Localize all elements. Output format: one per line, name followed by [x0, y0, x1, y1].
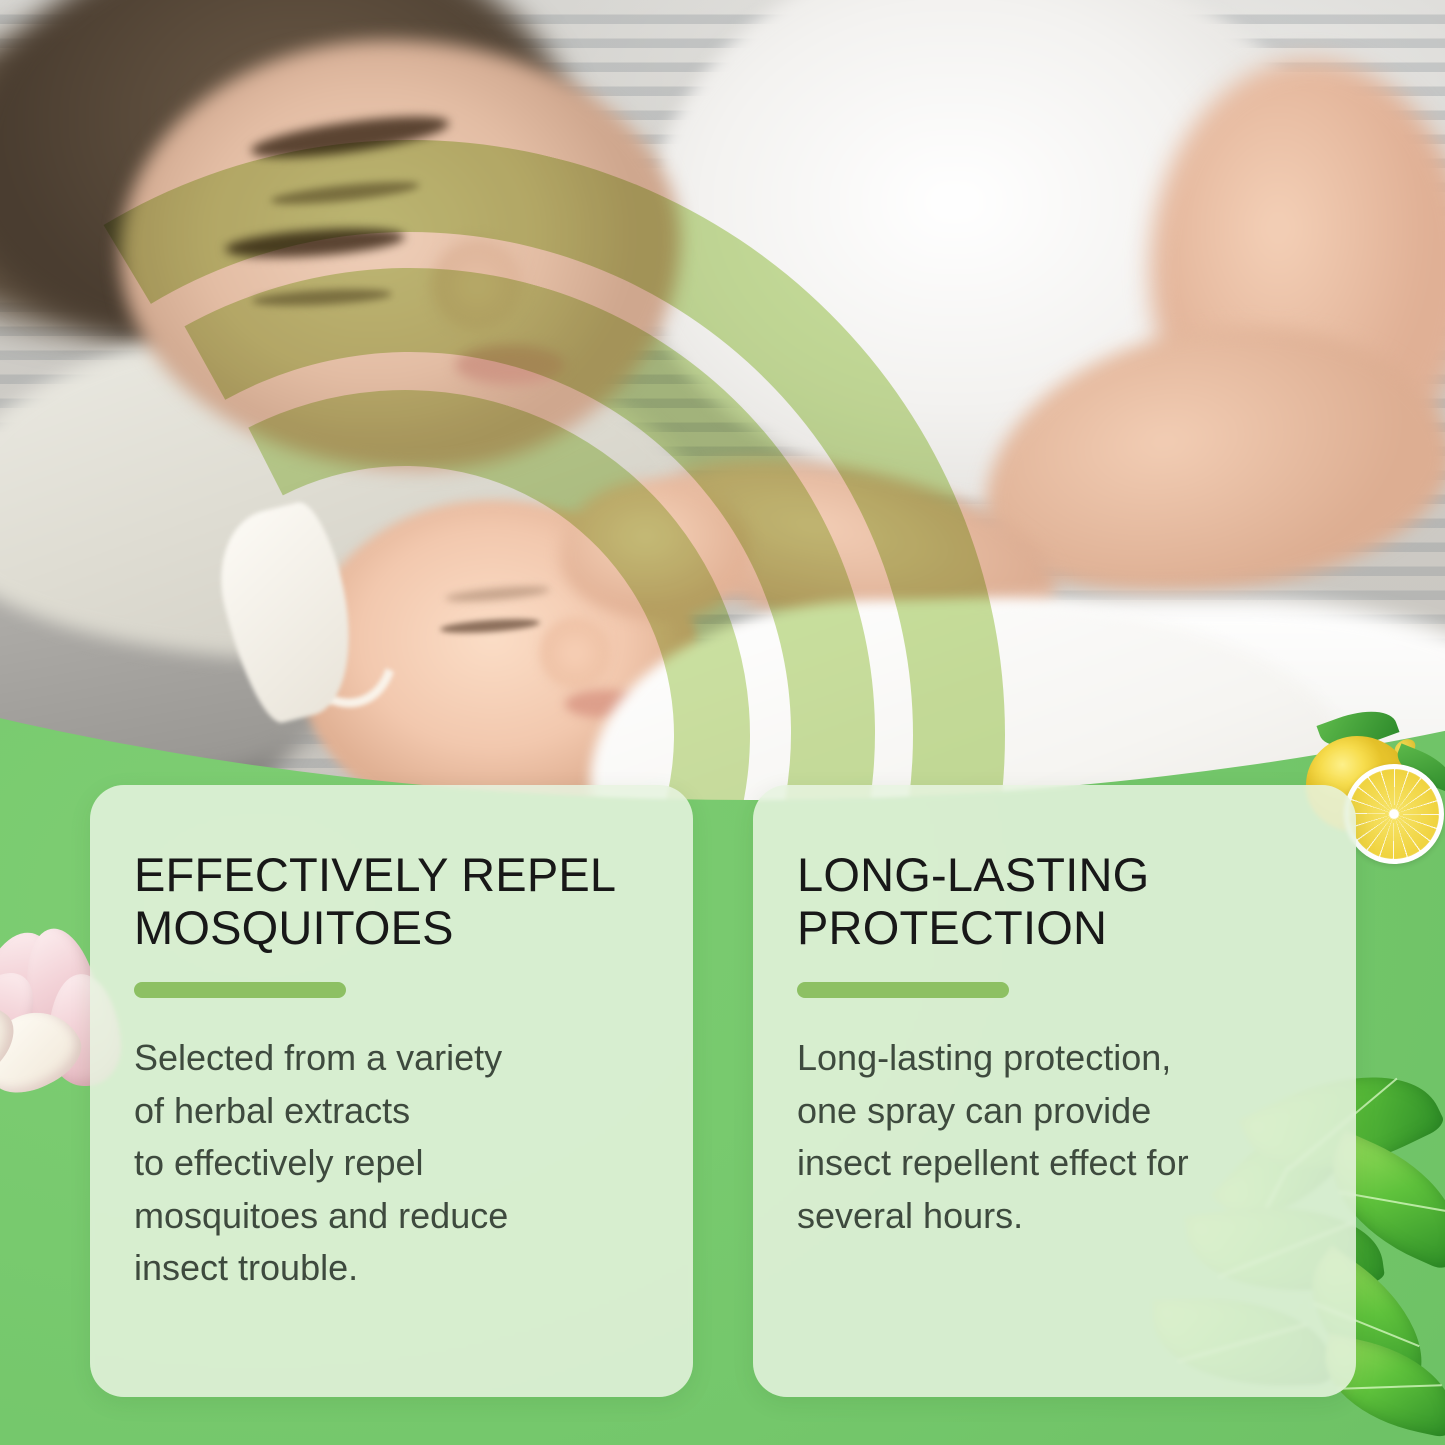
- feature-card-title: LONG-LASTING PROTECTION: [797, 849, 1300, 954]
- feature-card-list: EFFECTIVELY REPEL MOSQUITOES Selected fr…: [90, 785, 1356, 1397]
- mother-lips: [455, 345, 565, 385]
- mother-face: [120, 40, 680, 470]
- mother-eye-2: [252, 286, 393, 308]
- mother-hair-back: [0, 30, 310, 330]
- baby-nose: [540, 618, 610, 688]
- baby-headband: [250, 525, 421, 726]
- feature-card-protection: LONG-LASTING PROTECTION Long-lasting pro…: [753, 785, 1356, 1397]
- feature-card-repel: EFFECTIVELY REPEL MOSQUITOES Selected fr…: [90, 785, 693, 1397]
- hero-photo-scene: [0, 0, 1445, 800]
- product-feature-banner: EFFECTIVELY REPEL MOSQUITOES Selected fr…: [0, 0, 1445, 1445]
- mother-shirt: [640, 0, 1340, 510]
- mother-nose: [432, 240, 522, 330]
- mother-forearm: [628, 428, 1072, 672]
- lemon-half-slice: [1344, 764, 1444, 864]
- pillow: [0, 330, 700, 660]
- baby-bow: [204, 497, 371, 730]
- mother-upper-arm: [1150, 60, 1445, 480]
- mother-eye: [270, 177, 421, 209]
- baby-eye: [440, 617, 541, 636]
- mother-arm: [963, 295, 1445, 625]
- baby-head: [300, 500, 700, 800]
- accent-bar: [134, 982, 346, 998]
- hero-photo: [0, 0, 1445, 800]
- baby-lips: [565, 690, 643, 718]
- feature-card-body: Long-lasting protection, one spray can p…: [797, 1032, 1300, 1242]
- baby-eyebrow: [445, 583, 551, 604]
- feature-card-title: EFFECTIVELY REPEL MOSQUITOES: [134, 849, 637, 954]
- mother-eyebrow: [249, 108, 451, 166]
- mother-eyebrow-2: [224, 224, 405, 262]
- mother-hand: [560, 480, 750, 620]
- mother-hair: [0, 0, 580, 350]
- feature-card-body: Selected from a variety of herbal extrac…: [134, 1032, 637, 1295]
- accent-bar: [797, 982, 1009, 998]
